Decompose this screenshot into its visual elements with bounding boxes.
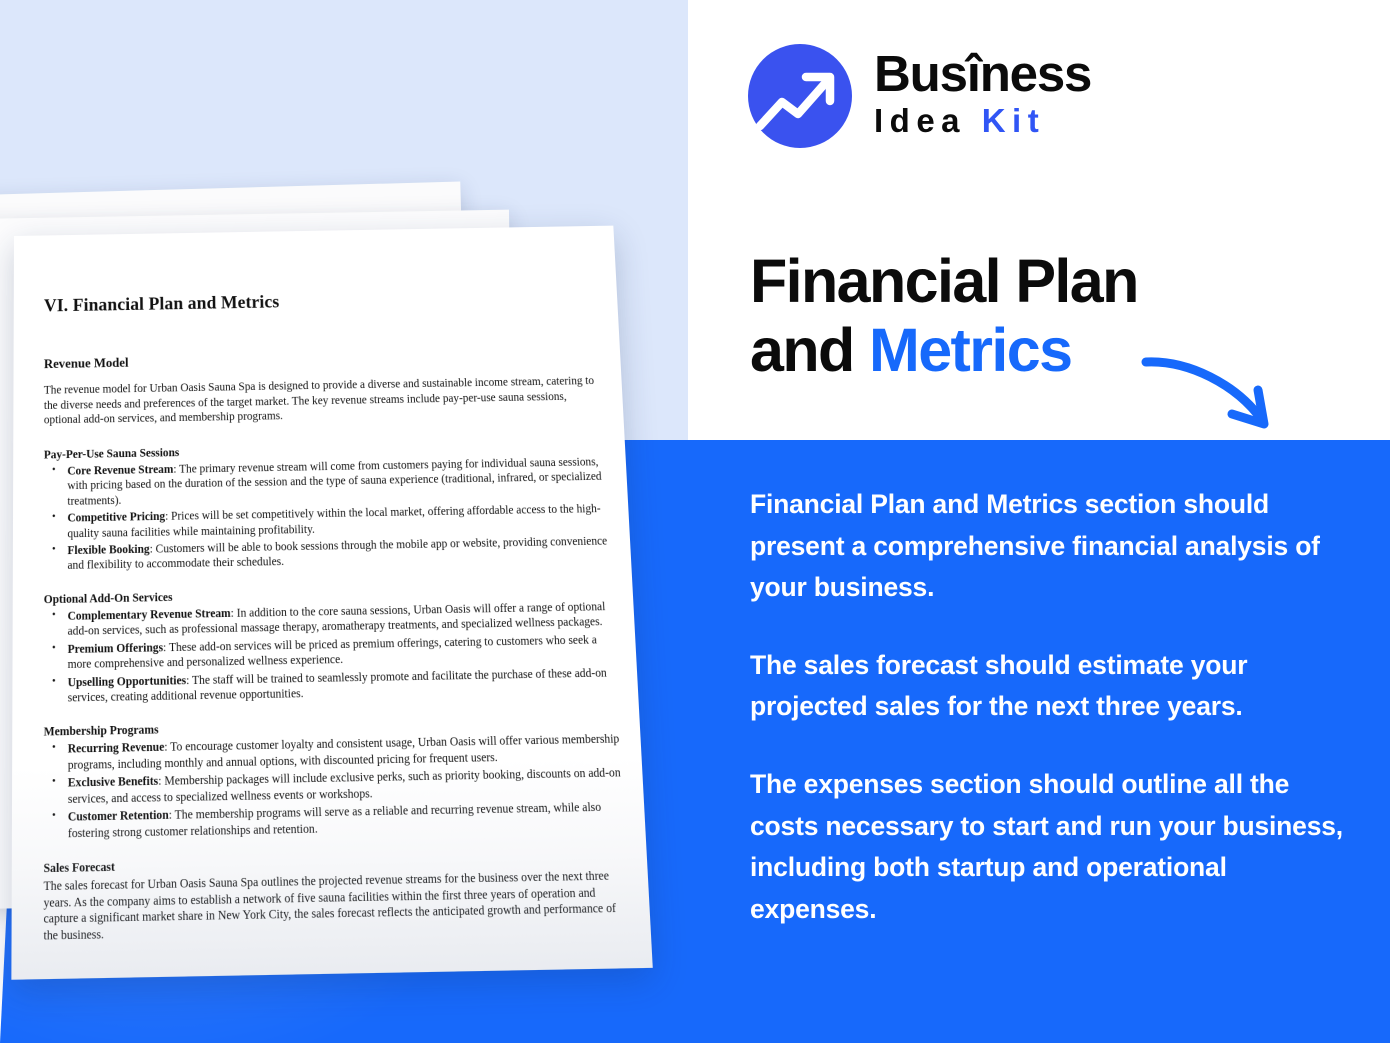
description-text: Financial Plan and Metrics section shoul… (750, 484, 1350, 930)
document-bullet-list: Complementary Revenue Stream: In additio… (44, 599, 620, 706)
trending-up-circle-icon (748, 44, 852, 148)
brand-wordmark: Busîness Idea Kit (874, 48, 1091, 144)
description-paragraph-3: The expenses section should outline all … (750, 764, 1350, 930)
page-title-metrics: Metrics (869, 316, 1071, 384)
list-item-term: Flexible Booking (67, 543, 149, 557)
list-item-term: Core Revenue Stream (67, 463, 173, 477)
list-item-term: Complementary Revenue Stream (68, 607, 231, 623)
document-forecast-paragraph: The sales forecast for Urban Oasis Sauna… (44, 868, 632, 945)
document-section-heading: Revenue Model (44, 347, 602, 372)
document-section-paragraph: The revenue model for Urban Oasis Sauna … (44, 374, 605, 429)
description-paragraph-1: Financial Plan and Metrics section shoul… (750, 484, 1350, 609)
slide-canvas: VI. Financial Plan and Metrics Revenue M… (0, 0, 1390, 1043)
brand-logo[interactable]: Busîness Idea Kit (748, 44, 1091, 148)
page-title-and: and (750, 316, 869, 384)
document-body: VI. Financial Plan and Metrics Revenue M… (43, 286, 632, 968)
list-item-term: Premium Offerings (68, 641, 164, 656)
page-title-line1: Financial Plan (750, 247, 1310, 316)
brand-name-line2: Idea Kit (874, 99, 1091, 144)
list-item-term: Competitive Pricing (67, 511, 165, 525)
list-item-term: Recurring Revenue (68, 741, 165, 756)
document-bullet-list: Recurring Revenue: To encourage customer… (44, 732, 627, 842)
list-item-term: Exclusive Benefits (68, 775, 158, 790)
document-page-front[interactable]: VI. Financial Plan and Metrics Revenue M… (11, 226, 652, 980)
brand-name-line1: Busîness (874, 48, 1091, 99)
list-item: Core Revenue Stream: The primary revenue… (65, 455, 609, 510)
list-item-term: Customer Retention (68, 809, 169, 824)
curved-arrow-down-right-icon (1140, 352, 1290, 438)
description-paragraph-2: The sales forecast should estimate your … (750, 645, 1350, 728)
brand-name-kit: Kit (982, 102, 1046, 139)
document-bullet-list: Core Revenue Stream: The primary revenue… (44, 455, 613, 575)
document-title: VI. Financial Plan and Metrics (44, 286, 600, 317)
brand-name-idea: Idea (874, 102, 982, 139)
list-item-term: Upselling Opportunities (68, 674, 187, 689)
